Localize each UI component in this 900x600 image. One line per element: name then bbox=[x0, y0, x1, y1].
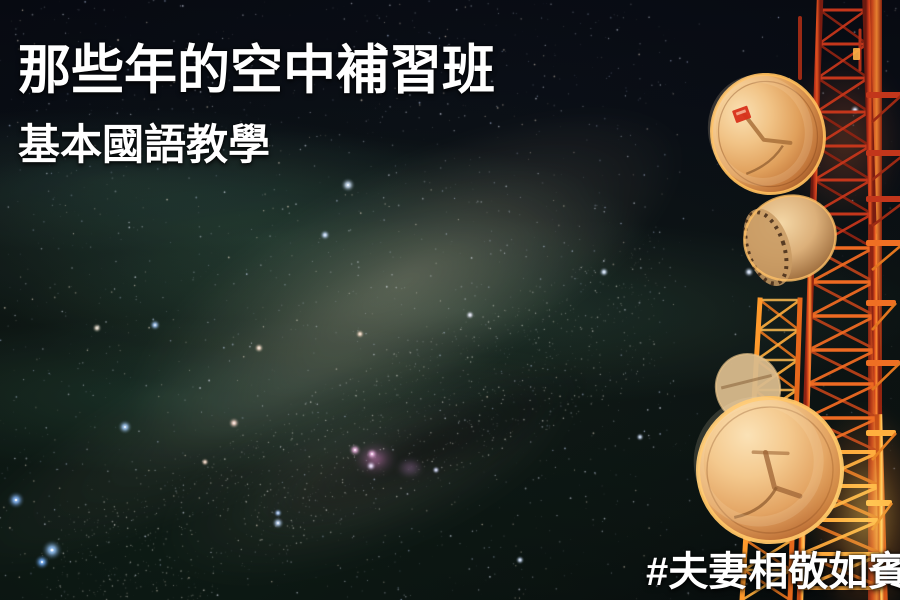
page-title: 那些年的空中補習班 bbox=[18, 44, 495, 97]
poster-image: 那些年的空中補習班 基本國語教學 #夫妻相敬如賓 bbox=[0, 0, 900, 600]
page-subtitle: 基本國語教學 bbox=[18, 124, 270, 166]
hashtag-label: #夫妻相敬如賓 bbox=[646, 552, 900, 592]
